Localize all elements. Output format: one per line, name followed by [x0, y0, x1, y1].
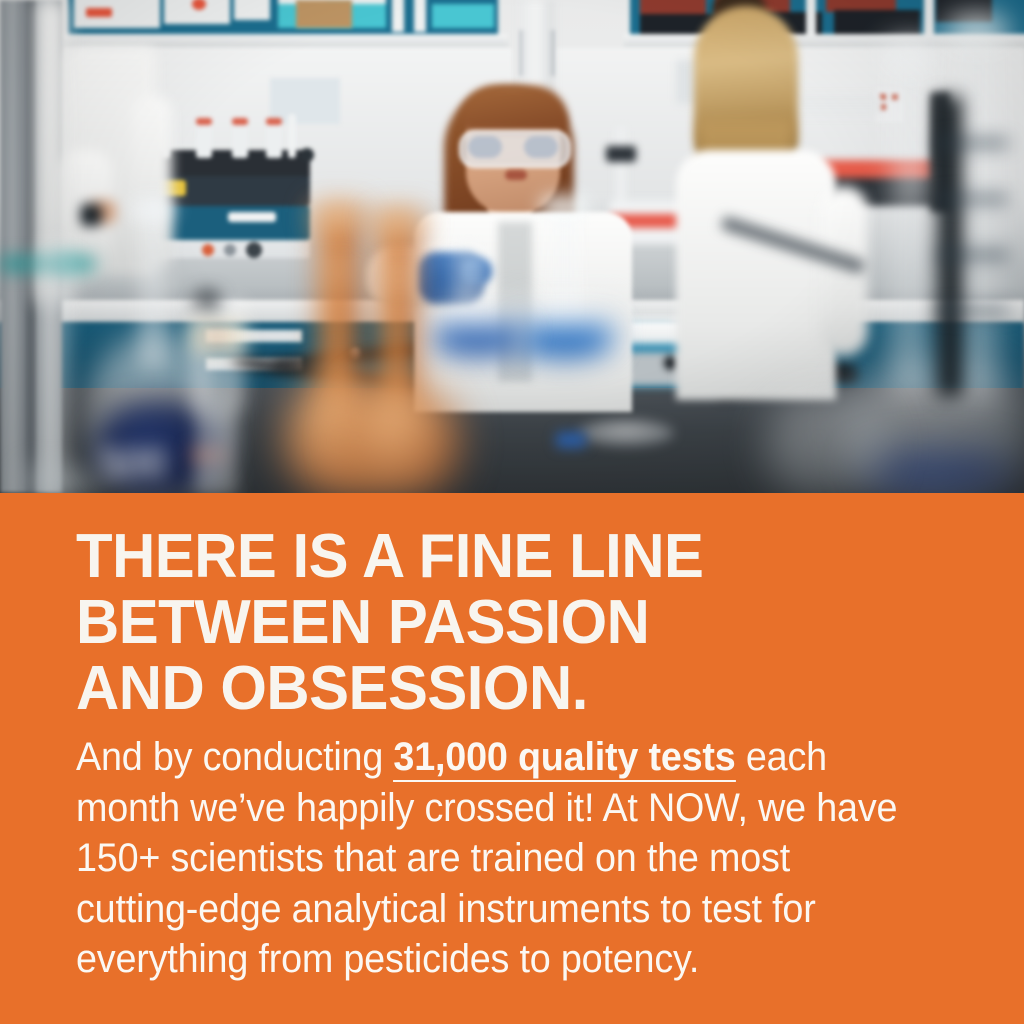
flask-label-500: 500	[100, 442, 186, 486]
flask-bulb-amber	[348, 382, 458, 493]
quality-tests-highlight: 31,000 quality tests	[393, 735, 735, 782]
shelf-rail	[938, 140, 1008, 146]
orange-text-panel: THERE IS A FINE LINE BETWEEN PASSION AND…	[0, 493, 1024, 1024]
body-copy-before: And by conducting	[76, 735, 393, 779]
glass-highlight	[902, 168, 924, 190]
page-headline: THERE IS A FINE LINE BETWEEN PASSION AND…	[76, 524, 945, 722]
hair-fringe	[460, 86, 568, 132]
bench-small-blue-item	[556, 432, 586, 448]
watch-glass-dish	[578, 420, 674, 446]
shelf-rail	[938, 196, 1008, 202]
lab-coat-right	[676, 150, 836, 400]
lab-photo: 500	[0, 0, 1024, 493]
column-top	[884, 40, 938, 70]
mouth	[505, 170, 527, 180]
cabinet-divider	[392, 0, 404, 32]
cabinet-divider	[806, 0, 816, 34]
glass-base	[22, 468, 100, 493]
cabinet-divider	[924, 0, 934, 34]
flask-blue-liquid	[518, 326, 612, 358]
cabinet-box-white	[234, 0, 270, 20]
social-graphic-canvas: 500	[0, 0, 1024, 1024]
cabinet-item-cyan	[432, 4, 494, 28]
wall-fixture	[270, 78, 340, 124]
bottle-label-stripe	[208, 334, 226, 339]
cabinet-box-kraft	[296, 0, 352, 28]
cabinet-label-red	[86, 8, 112, 17]
shelf-rail	[938, 308, 1008, 314]
flask-graduation-mark	[322, 266, 356, 274]
flask-bulb-clear	[766, 392, 886, 493]
wall-outlet-led	[880, 94, 886, 100]
cabinet-item-dark	[834, 10, 920, 34]
column-top	[946, 14, 1008, 48]
wall-outlet-led	[880, 104, 886, 110]
flask-blue-liquid-2	[434, 326, 522, 356]
shelf-rail	[938, 252, 1008, 258]
flask-rim	[540, 196, 588, 216]
body-copy: And by conducting 31,000 quality tests e…	[76, 732, 909, 985]
flask-graduation-mark	[382, 272, 414, 280]
flask-neck-rim	[132, 198, 174, 220]
flask-neck-rim	[372, 210, 424, 232]
cabinet-divider	[414, 0, 426, 32]
flask-neck-rim	[312, 204, 366, 226]
